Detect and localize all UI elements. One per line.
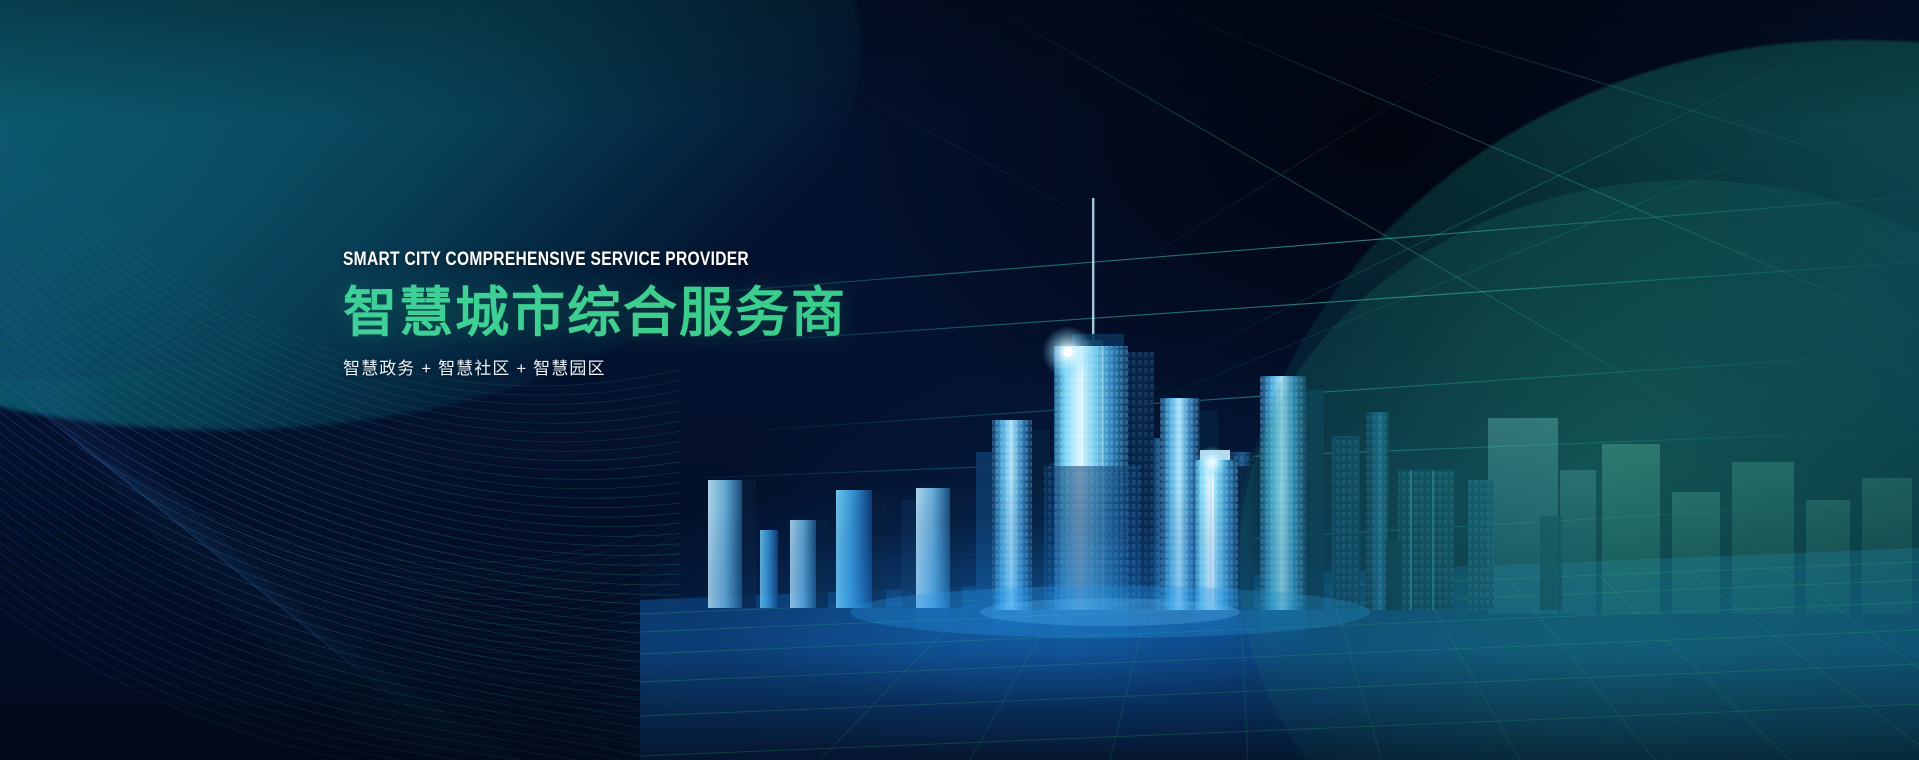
foreground-bar-blocks [708, 480, 962, 608]
smart-city-hero-banner: SMART CITY COMPREHENSIVE SERVICE PROVIDE… [0, 0, 1919, 760]
hero-tagline-chinese: 智慧政务 + 智慧社区 + 智慧园区 [343, 354, 983, 379]
hero-headline-chinese: 智慧城市综合服务商 [343, 284, 983, 342]
hero-eyebrow-english: SMART CITY COMPREHENSIVE SERVICE PROVIDE… [343, 250, 868, 271]
hero-text-block: SMART CITY COMPREHENSIVE SERVICE PROVIDE… [343, 250, 983, 379]
hero-tower [1042, 326, 1154, 610]
